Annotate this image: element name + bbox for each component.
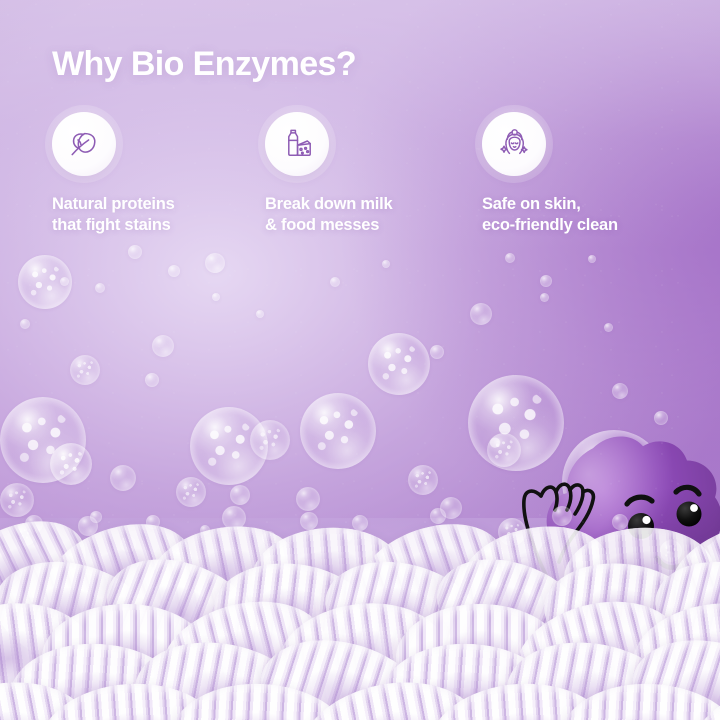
- fabric-loop-core: [0, 703, 57, 720]
- fabric-loop-core: [208, 709, 313, 720]
- fabric-loop-core: [78, 709, 184, 720]
- fabric-loop-core: [335, 703, 447, 720]
- woven-fabric-texture: [0, 518, 720, 720]
- promo-graphic-canvas: Why Bio Enzymes? Natural proteins that f…: [0, 0, 720, 720]
- fabric-loop-core: [598, 709, 703, 720]
- fabric-loop-core: [468, 709, 574, 720]
